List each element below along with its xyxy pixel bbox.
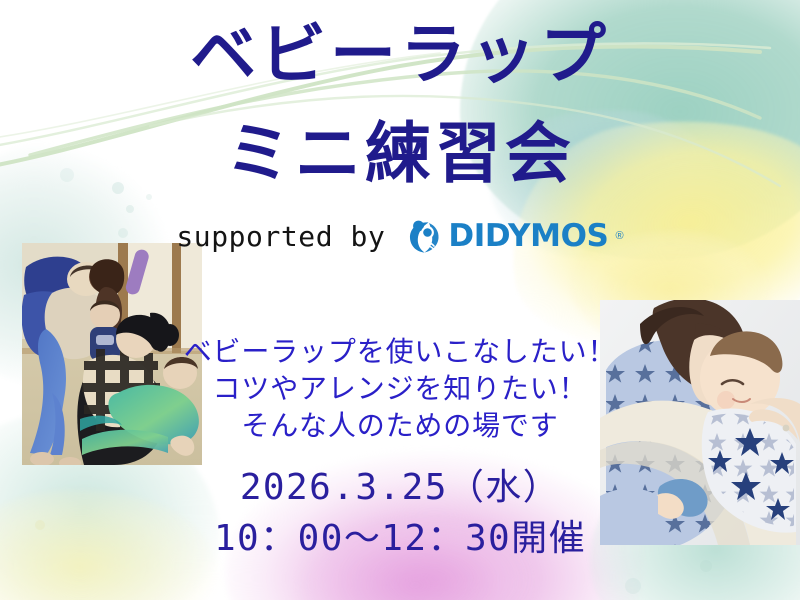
sponsor-credit-row: supported by DIDYMOS ® xyxy=(0,218,800,254)
didymos-logo: DIDYMOS ® xyxy=(407,218,623,254)
event-time: 10：00〜12：30開催 xyxy=(0,513,800,564)
flyer-headline-line2: ミニ練習会 xyxy=(0,121,800,187)
flyer-canvas: ベビーラップ ミニ練習会 supported by DIDYMOS ® ベ xyxy=(0,0,800,600)
splatter-dot xyxy=(146,194,152,200)
event-schedule: 2026.3.25（水） 10：00〜12：30開催 xyxy=(0,462,800,564)
event-date: 2026.3.25（水） xyxy=(0,462,800,513)
splatter-dot xyxy=(126,205,134,213)
supported-by-label: supported by xyxy=(176,220,385,253)
body-copy-line-3: そんな人のための場です xyxy=(0,407,800,444)
splatter-dot xyxy=(625,578,641,594)
body-copy: ベビーラップを使いこなしたい！ コツやアレンジを知りたい！ そんな人のための場で… xyxy=(0,333,800,445)
body-copy-line-2: コツやアレンジを知りたい！ xyxy=(0,370,800,407)
flyer-headline-line1: ベビーラップ xyxy=(0,22,800,88)
didymos-wordmark: DIDYMOS xyxy=(448,218,608,254)
parent-carrying-baby-icon xyxy=(407,218,441,254)
registered-trademark-symbol: ® xyxy=(616,230,624,242)
body-copy-line-1: ベビーラップを使いこなしたい！ xyxy=(0,333,800,370)
